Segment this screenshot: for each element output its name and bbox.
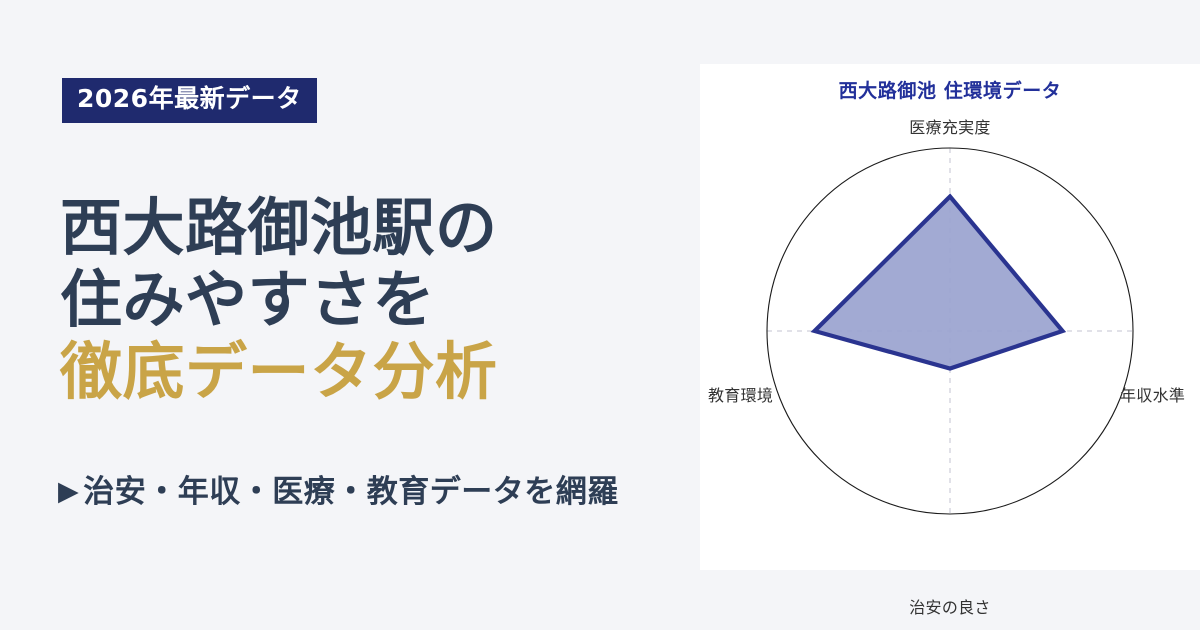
chart-card: 西大路御池 住環境データ 医療充実度 年収水準 治安の良さ 教育環境: [700, 64, 1200, 570]
subtitle: ▶治安・年収・医療・教育データを網羅: [58, 466, 619, 511]
radar-chart: 医療充実度 年収水準 治安の良さ 教育環境: [700, 64, 1200, 570]
headline-line-1: 西大路御池駅の: [60, 192, 680, 264]
headline-line-3: 徹底データ分析: [60, 336, 680, 408]
hero-banner: 2026年最新データ 西大路御池駅の 住みやすさを 徹底データ分析 ▶治安・年収…: [0, 0, 1200, 630]
status-badge: 2026年最新データ: [62, 78, 317, 123]
radar-data-polygon: [815, 197, 1063, 369]
headline-line-2: 住みやすさを: [60, 264, 680, 336]
subtitle-text: 治安・年収・医療・教育データを網羅: [83, 474, 619, 510]
radar-axis-label-right: 年収水準: [1120, 382, 1200, 406]
triangle-marker-icon: ▶: [58, 476, 79, 507]
page-title: 西大路御池駅の 住みやすさを 徹底データ分析: [60, 192, 680, 408]
radar-axis-label-top: 医療充実度: [700, 114, 1200, 138]
radar-chart-svg: [700, 64, 1200, 570]
left-content-column: 2026年最新データ 西大路御池駅の 住みやすさを 徹底データ分析 ▶治安・年収…: [0, 0, 700, 630]
radar-axis-label-bottom: 治安の良さ: [700, 594, 1200, 618]
radar-axis-label-left: 教育環境: [708, 382, 773, 406]
